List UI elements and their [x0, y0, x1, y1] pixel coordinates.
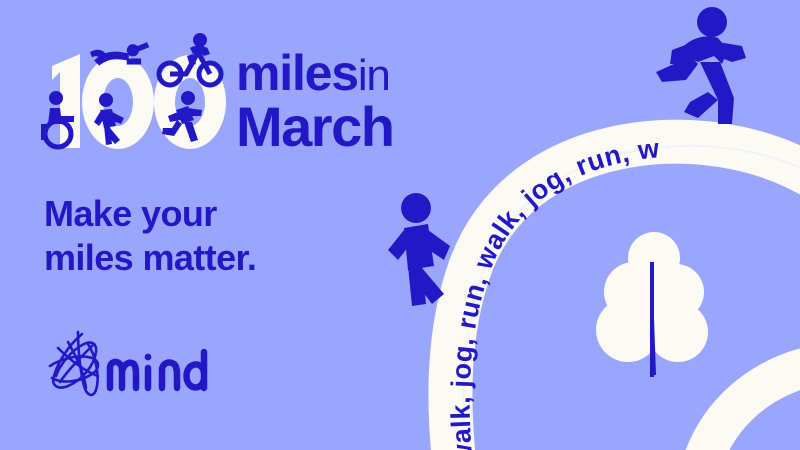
wordmark: milesin March — [236, 50, 393, 153]
road-band-secondary — [700, 366, 800, 450]
mind-logo — [38, 326, 213, 404]
tagline-line-2: miles matter. — [44, 236, 256, 280]
tagline-line-1: Make your — [44, 192, 256, 236]
headline-word-march: March — [236, 100, 393, 153]
tree — [596, 232, 708, 377]
walker-figure — [382, 192, 462, 310]
headline-word-in: in — [358, 51, 390, 100]
runner-figure — [648, 6, 760, 126]
mind-knot-icon — [50, 332, 98, 395]
tree-trunk-stroke — [650, 262, 654, 377]
hundred-lockup — [32, 24, 242, 154]
tagline: Make your miles matter. — [44, 192, 256, 280]
headline-word-miles: miles — [236, 45, 358, 101]
mind-i-dot — [145, 354, 152, 361]
headline-block: milesin March — [32, 24, 452, 164]
mind-wordmark — [110, 352, 204, 388]
headline-line-miles-in: milesin — [236, 50, 393, 98]
campaign-poster: walk, jog, run, walk, jog, run, w — [0, 0, 800, 450]
